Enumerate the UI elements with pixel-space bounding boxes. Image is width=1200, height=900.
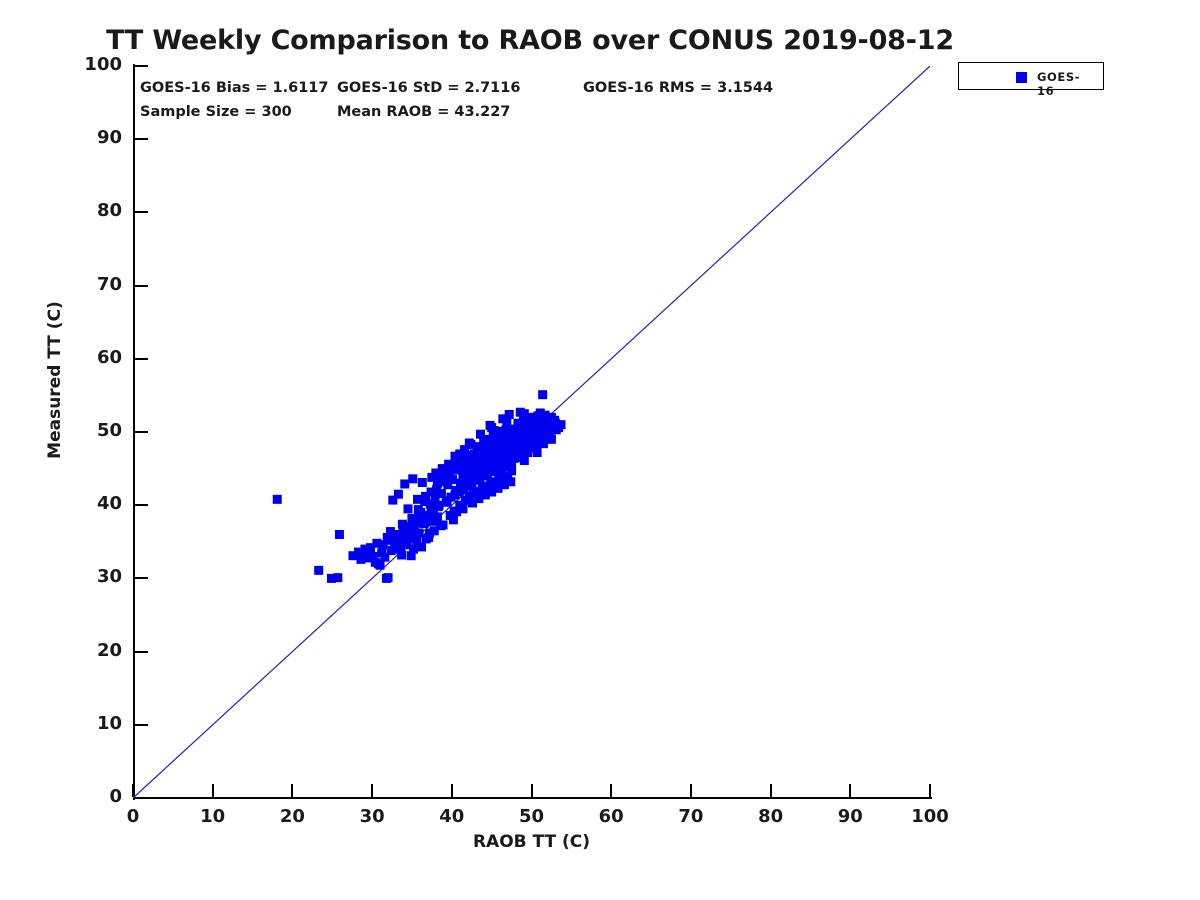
x-tick-label-100: 100 [895, 806, 965, 827]
scatter-point [425, 529, 434, 538]
x-tick-label-70: 70 [656, 806, 726, 827]
scatter-point [333, 573, 342, 582]
scatter-point [515, 453, 524, 462]
scatter-point [536, 408, 545, 417]
scatter-point [428, 517, 437, 526]
plot-area [133, 66, 930, 798]
scatter-point [335, 530, 344, 539]
scatter-point [499, 463, 508, 472]
legend-marker-icon [1016, 72, 1027, 83]
y-tick-label-60: 60 [62, 347, 122, 368]
y-tick-label-30: 30 [62, 566, 122, 587]
scatter-point [443, 496, 452, 505]
chart-figure: TT Weekly Comparison to RAOB over CONUS … [0, 0, 1200, 900]
y-tick-label-10: 10 [62, 713, 122, 734]
y-tick-label-50: 50 [62, 420, 122, 441]
x-tick-label-0: 0 [98, 806, 168, 827]
scatter-point [538, 390, 547, 399]
y-tick-label-40: 40 [62, 493, 122, 514]
x-tick-label-90: 90 [815, 806, 885, 827]
x-tick-label-60: 60 [576, 806, 646, 827]
x-tick-label-30: 30 [337, 806, 407, 827]
scatter-point [551, 419, 560, 428]
y-tick-label-90: 90 [62, 127, 122, 148]
scatter-point [459, 485, 468, 494]
scatter-point [547, 435, 556, 444]
x-tick-label-80: 80 [736, 806, 806, 827]
scatter-point [507, 458, 516, 467]
x-tick-label-20: 20 [257, 806, 327, 827]
scatter-point [398, 520, 407, 529]
scatter-point [458, 473, 467, 482]
scatter-point [314, 566, 323, 575]
legend-box: GOES-16 [958, 62, 1104, 90]
scatter-point [431, 468, 440, 477]
y-tick-label-0: 0 [62, 786, 122, 807]
scatter-point [394, 490, 403, 499]
scatter-point [501, 440, 510, 449]
scatter-point [506, 477, 515, 486]
scatter-point [490, 426, 499, 435]
scatter-point [518, 441, 527, 450]
scatter-point [449, 515, 458, 524]
y-axis-label: Measured TT (C) [45, 280, 65, 480]
scatter-point [526, 436, 535, 445]
y-tick-label-100: 100 [62, 54, 122, 75]
y-tick-label-20: 20 [62, 640, 122, 661]
y-tick-label-70: 70 [62, 274, 122, 295]
x-tick-label-10: 10 [178, 806, 248, 827]
y-tick-label-80: 80 [62, 200, 122, 221]
scatter-point [486, 477, 495, 486]
x-axis-label: RAOB TT (C) [133, 832, 930, 852]
page-title: TT Weekly Comparison to RAOB over CONUS … [0, 25, 1060, 56]
scatter-point [427, 488, 436, 497]
scatter-point [418, 478, 427, 487]
scatter-point [467, 480, 476, 489]
scatter-points-group [273, 390, 566, 583]
scatter-point [458, 504, 467, 513]
scatter-point [376, 561, 385, 570]
scatter-point [520, 409, 529, 418]
scatter-point [386, 527, 395, 536]
scatter-point [393, 541, 402, 550]
scatter-point [513, 419, 522, 428]
scatter-point [476, 430, 485, 439]
scatter-point [450, 490, 459, 499]
scatter-point [435, 501, 444, 510]
scatter-point [420, 497, 429, 506]
scatter-point [408, 474, 417, 483]
scatter-point [450, 452, 459, 461]
legend-label: GOES-16 [1037, 70, 1097, 98]
scatter-point [478, 482, 487, 491]
scatter-plot-canvas [133, 66, 930, 798]
x-tick-label-40: 40 [417, 806, 487, 827]
scatter-point [384, 573, 393, 582]
scatter-point [528, 425, 537, 434]
scatter-point [403, 504, 412, 513]
scatter-point [539, 439, 548, 448]
scatter-point [427, 506, 436, 515]
scatter-point [460, 445, 469, 454]
scatter-point [400, 479, 409, 488]
x-tick-label-50: 50 [497, 806, 567, 827]
scatter-point [491, 467, 500, 476]
scatter-point [273, 495, 282, 504]
scatter-point [419, 512, 428, 521]
scatter-point [502, 417, 511, 426]
